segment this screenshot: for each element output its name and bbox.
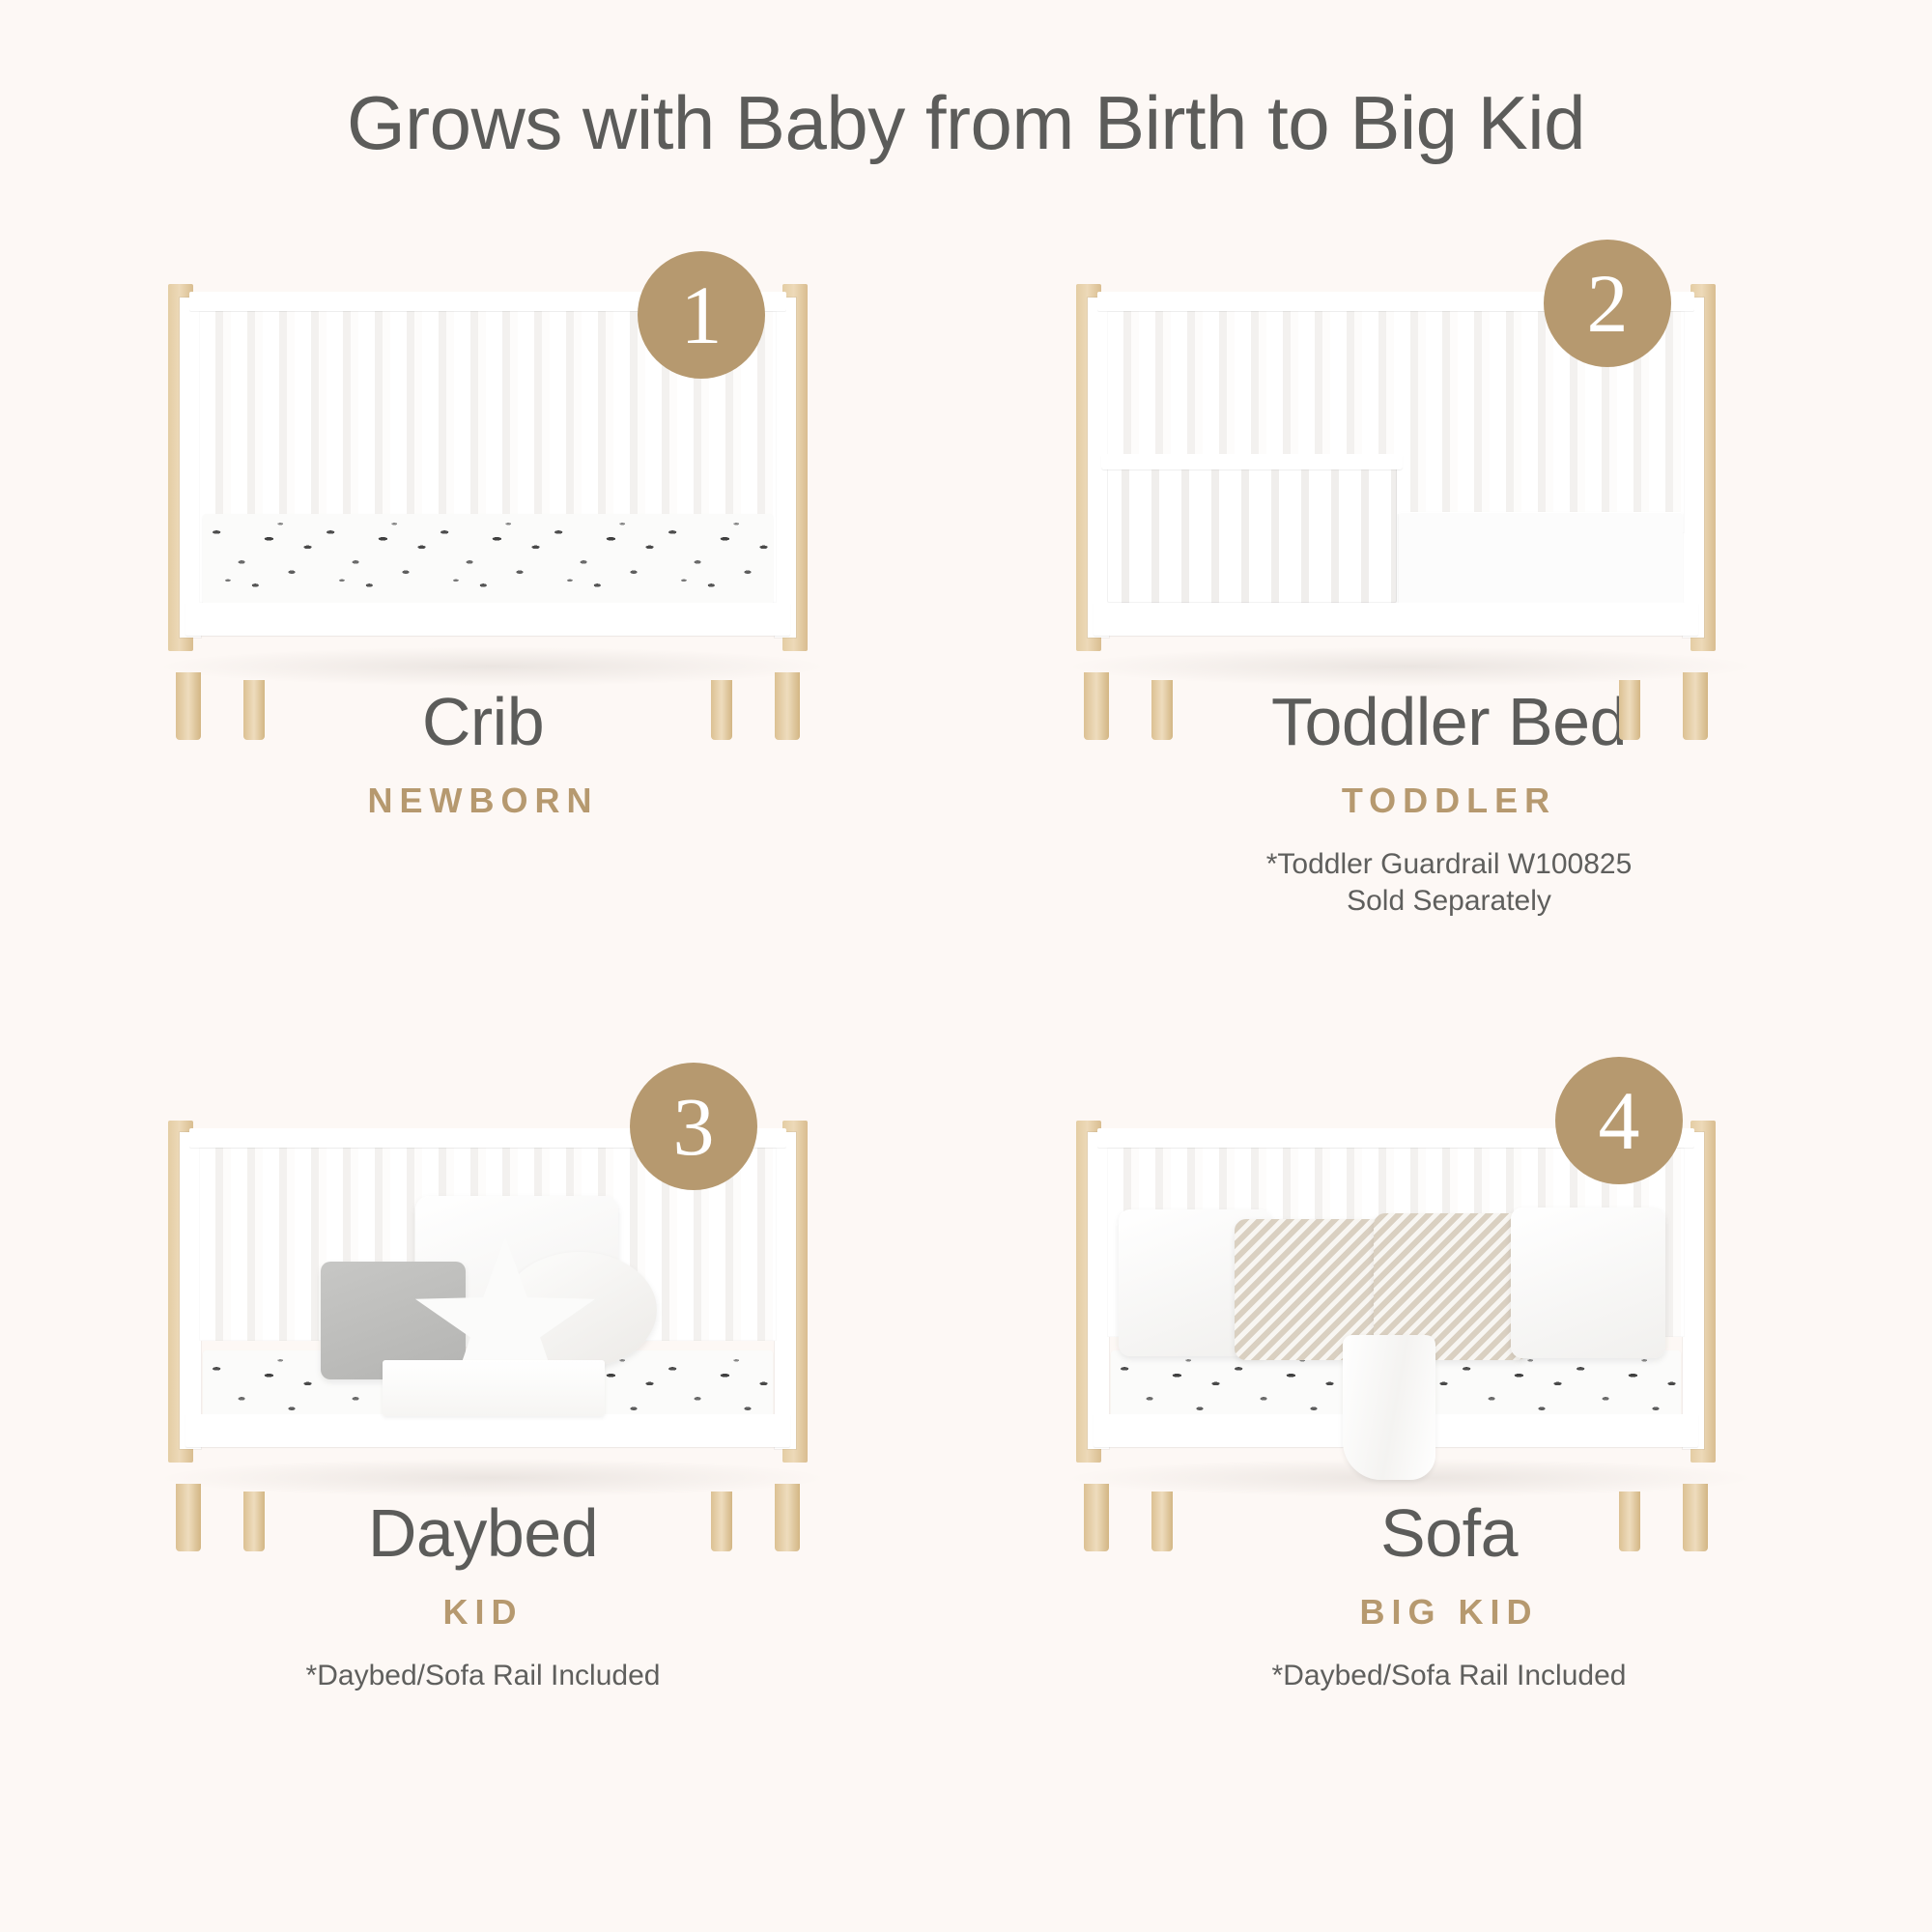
toddler-guardrail (1107, 462, 1397, 603)
configuration-name: Crib (0, 686, 966, 759)
side-frame-right (1683, 1132, 1704, 1449)
panel-sofa: 4 Sofa BIG KID *Daybed/Sofa Rail Include… (966, 1043, 1932, 1893)
side-frame-left (180, 1132, 201, 1449)
note-line-1: *Toddler Guardrail W100825 (966, 846, 1932, 883)
leg-front-right (1683, 1484, 1708, 1551)
leg-front-right (775, 1484, 800, 1551)
bottom-rail (1094, 603, 1698, 636)
configuration-note: *Toddler Guardrail W100825 Sold Separate… (966, 846, 1932, 921)
configuration-name: Toddler Bed (966, 686, 1932, 759)
ground-shadow (1072, 647, 1748, 686)
side-frame-left (180, 298, 201, 638)
crib-mattress (203, 514, 773, 607)
configuration-stage: BIG KID (966, 1592, 1932, 1633)
leg-back-left (1151, 1492, 1173, 1551)
daybed-caption: Daybed KID *Daybed/Sofa Rail Included (0, 1497, 966, 1694)
leg-back-right (711, 1492, 732, 1551)
leg-back-right (1619, 680, 1640, 740)
note-line-2: Sold Separately (966, 883, 1932, 920)
step-badge-3: 3 (630, 1063, 757, 1190)
leg-front-left (1084, 672, 1109, 740)
leg-front-left (1084, 1484, 1109, 1551)
side-frame-right (775, 1132, 796, 1449)
throw-blanket (1343, 1335, 1435, 1480)
leg-front-right (775, 672, 800, 740)
infographic-page: Grows with Baby from Birth to Big Kid (0, 0, 1932, 1932)
configuration-name: Daybed (0, 1497, 966, 1571)
side-frame-left (1088, 1132, 1109, 1449)
folded-sheet (383, 1360, 605, 1416)
bottom-rail (185, 1414, 790, 1447)
bottom-rail (185, 603, 790, 636)
side-frame-right (1683, 298, 1704, 638)
step-badge-2: 2 (1544, 240, 1671, 367)
leg-front-left (176, 1484, 201, 1551)
side-frame-right (775, 298, 796, 638)
panel-daybed: 3 Daybed KID *Daybed/Sofa Rail Included (0, 1043, 966, 1893)
leg-back-left (243, 1492, 265, 1551)
configuration-stage: KID (0, 1592, 966, 1633)
note-line-1: *Daybed/Sofa Rail Included (0, 1658, 966, 1694)
sofa-pillow-4 (1511, 1207, 1665, 1358)
configuration-note: *Daybed/Sofa Rail Included (0, 1658, 966, 1694)
configuration-note: *Daybed/Sofa Rail Included (966, 1658, 1932, 1694)
note-line-1: *Daybed/Sofa Rail Included (966, 1658, 1932, 1694)
panel-crib: 1 Crib NEWBORN (0, 232, 966, 1082)
daybed-image: 3 (0, 1043, 966, 1507)
configuration-stage: NEWBORN (0, 781, 966, 821)
guardrail-top-rail (1101, 454, 1403, 469)
configuration-grid: 1 Crib NEWBORN (0, 232, 1932, 1932)
step-badge-1: 1 (638, 251, 765, 379)
panel-toddler-bed: 2 Toddler Bed TODDLER *Toddler Guardrail… (966, 232, 1932, 1082)
configuration-stage: TODDLER (966, 781, 1932, 821)
sofa-caption: Sofa BIG KID *Daybed/Sofa Rail Included (966, 1497, 1932, 1694)
configuration-name: Sofa (966, 1497, 1932, 1571)
leg-back-right (711, 680, 732, 740)
page-title: Grows with Baby from Birth to Big Kid (0, 79, 1932, 167)
leg-front-right (1683, 672, 1708, 740)
leg-front-left (176, 672, 201, 740)
leg-back-left (243, 680, 265, 740)
plain-mattress-section (1399, 512, 1683, 609)
step-badge-4: 4 (1555, 1057, 1683, 1184)
crib-caption: Crib NEWBORN (0, 686, 966, 821)
leg-back-left (1151, 680, 1173, 740)
sofa-image: 4 (966, 1043, 1932, 1507)
toddler-bed-caption: Toddler Bed TODDLER *Toddler Guardrail W… (966, 686, 1932, 920)
leg-back-right (1619, 1492, 1640, 1551)
toddler-bed-image: 2 (966, 232, 1932, 696)
crib-image: 1 (0, 232, 966, 696)
